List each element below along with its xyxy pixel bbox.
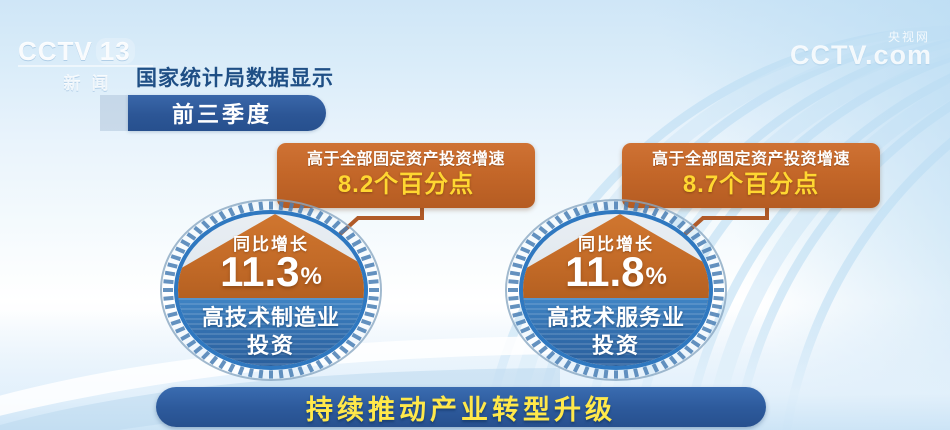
watermark-site-text: CCTV.com <box>790 40 932 70</box>
callout-value-text: 8.7个百分点 <box>622 170 880 199</box>
stat-badge-high-tech-services: 同比增长 11.8% 高技术服务业 投资 <box>502 196 730 384</box>
badge-name-line2: 投资 <box>523 328 709 360</box>
footer-slogan-pill: 持续推动产业转型升级 <box>156 387 766 427</box>
broadcast-graphic: CCTV13 新闻 央视网 CCTV.com 国家统计局数据显示 前三季度 高于… <box>0 0 950 430</box>
callout-comparison-text: 高于全部固定资产投资增速 <box>622 150 880 169</box>
badge-value: 11.3% <box>178 250 364 299</box>
badge-face: 同比增长 11.8% 高技术服务业 投资 <box>519 210 713 370</box>
cctv13-news-logo: CCTV13 新闻 <box>18 38 153 90</box>
watermark-cn-text: 央视网 <box>888 28 930 45</box>
badge-face: 同比增长 11.3% 高技术制造业 投资 <box>174 210 368 370</box>
badge-value-number: 11.3 <box>220 248 299 295</box>
badge-name-line2: 投资 <box>178 328 364 360</box>
footer-slogan-text: 持续推动产业转型升级 <box>306 388 616 427</box>
period-banner: 前三季度 <box>128 95 326 131</box>
percent-symbol: % <box>301 263 322 290</box>
callout-comparison-text: 高于全部固定资产投资增速 <box>277 150 535 169</box>
stat-badge-high-tech-manufacturing: 同比增长 11.3% 高技术制造业 投资 <box>157 196 385 384</box>
badge-value: 11.8% <box>523 250 709 299</box>
logo-text: CCTV <box>18 36 93 66</box>
source-line: 国家统计局数据显示 <box>136 62 334 92</box>
percent-symbol: % <box>646 263 667 290</box>
logo-subtitle: 新闻 <box>18 69 153 94</box>
callout-value-text: 8.2个百分点 <box>277 170 535 199</box>
logo-rule <box>18 65 153 67</box>
period-banner-label: 前三季度 <box>172 97 272 129</box>
badge-value-number: 11.8 <box>565 248 644 295</box>
cctv-com-watermark: 央视网 CCTV.com <box>790 40 932 71</box>
logo-number: 13 <box>96 38 135 64</box>
